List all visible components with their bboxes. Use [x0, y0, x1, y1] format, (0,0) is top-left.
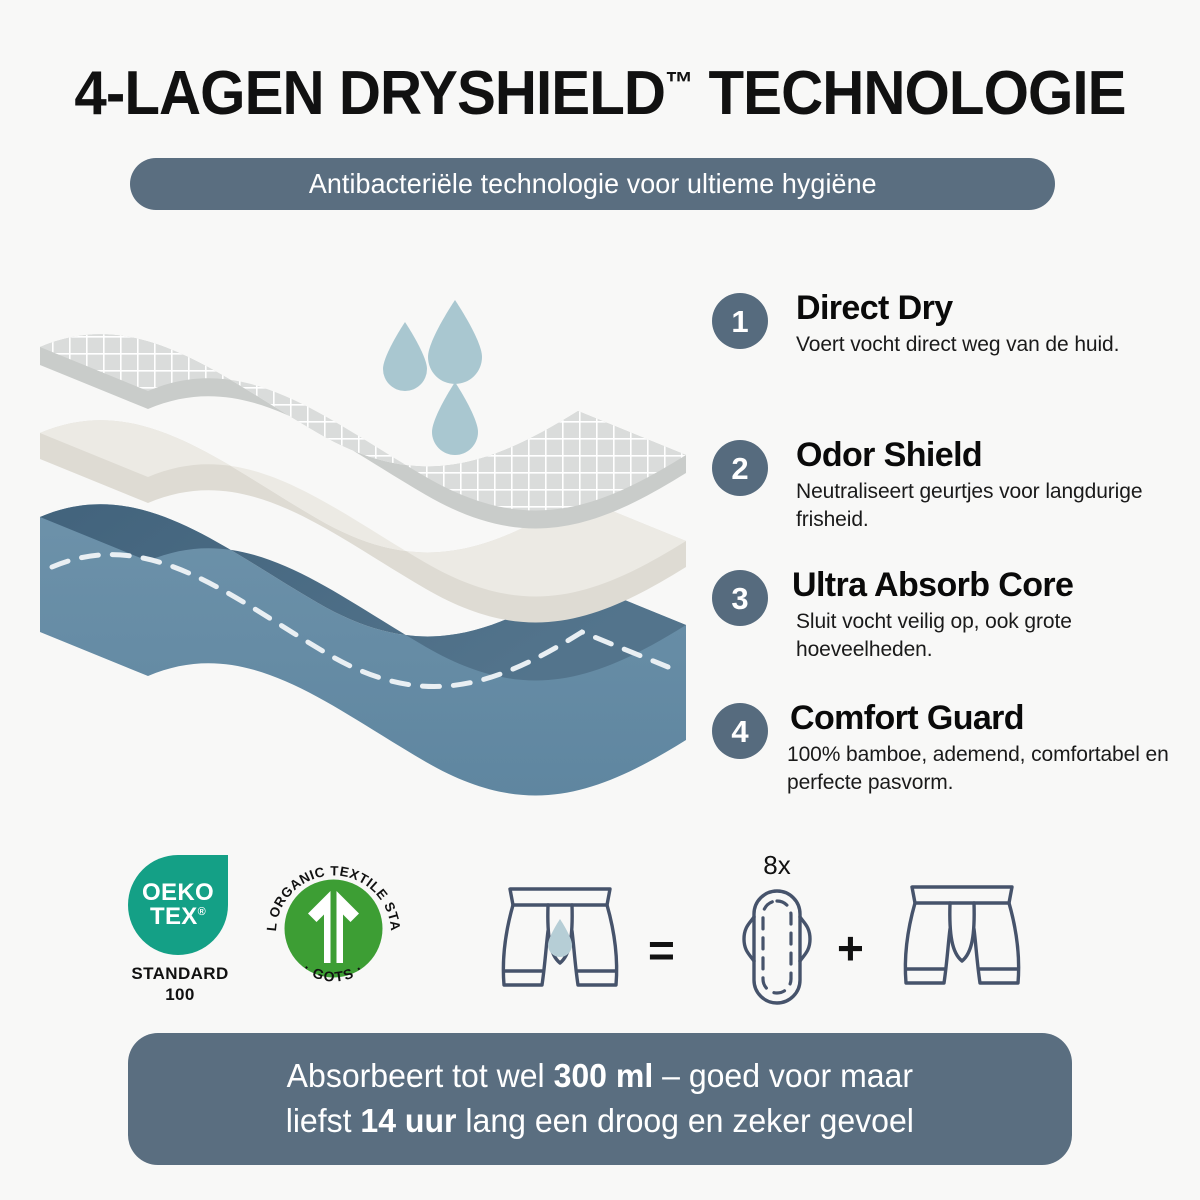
banner-l2-post: lang een droog en zeker gevoel: [457, 1102, 914, 1139]
certification-badges: OEKO TEX® STANDARD 100: [110, 855, 430, 1015]
title-main-text: 4-LAGEN DRYSHIELD: [74, 59, 665, 128]
banner-l1-pre: Absorbeert tot wel: [287, 1057, 554, 1094]
boxer-brief-with-droplet-icon: [490, 877, 630, 1007]
pad-inner-dashed-outline: [763, 901, 791, 993]
feature-heading: Comfort Guard: [790, 701, 1190, 737]
feature-description: Neutraliseert geurtjes voor langdurige f…: [796, 478, 1196, 534]
absorption-equation: = 8x +: [480, 845, 1040, 1010]
feature-text-block: Ultra Absorb Core Sluit vocht veilig op,…: [792, 568, 1192, 664]
droplet-icon: [432, 382, 478, 455]
oeko-tex-badge: OEKO TEX® STANDARD 100: [128, 855, 232, 1005]
plain-boxer-brief-icon: [892, 875, 1032, 1005]
oeko-tex-caption: STANDARD 100: [128, 964, 232, 1005]
feature-number-badge: 3: [712, 570, 768, 626]
infographic-page: 4-LAGEN DRYSHIELD™ TECHNOLOGIE Antibacte…: [0, 0, 1200, 1200]
feature-heading: Odor Shield: [796, 438, 1196, 474]
layer-diagram-svg: [18, 285, 708, 825]
gots-logo-svg: GLOBAL ORGANIC TEXTILE STANDARD · GOTS ·: [256, 851, 411, 1006]
gots-badge: GLOBAL ORGANIC TEXTILE STANDARD · GOTS ·: [256, 851, 411, 1006]
sanitary-pad-icon: [732, 887, 822, 1007]
feature-heading: Ultra Absorb Core: [792, 568, 1192, 604]
feature-text-block: Direct Dry Voert vocht direct weg van de…: [796, 291, 1196, 359]
banner-volume-value: 300 ml: [554, 1057, 654, 1094]
droplet-icon: [548, 919, 572, 957]
plus-sign: +: [837, 925, 864, 971]
feature-description: Sluit vocht veilig op, ook grote hoeveel…: [796, 608, 1192, 664]
title-tail-text: TECHNOLOGIE: [693, 59, 1125, 128]
equals-sign: =: [648, 927, 675, 973]
oeko-line2: TEX®: [150, 905, 206, 929]
banner-l2-pre: liefst: [286, 1102, 361, 1139]
feature-number-badge: 1: [712, 293, 768, 349]
banner-l1-post: – goed voor maar: [653, 1057, 913, 1094]
subtitle-text: Antibacteriële technologie voor ultieme …: [309, 168, 877, 200]
feature-text-block: Comfort Guard 100% bamboe, ademend, comf…: [790, 701, 1190, 797]
feature-number-badge: 4: [712, 703, 768, 759]
subtitle-badge: Antibacteriële technologie voor ultieme …: [130, 158, 1055, 210]
feature-heading: Direct Dry: [796, 291, 1196, 327]
gots-circle: [285, 880, 383, 978]
feature-description: Voert vocht direct weg van de huid.: [796, 331, 1196, 359]
banner-duration-value: 14 uur: [361, 1102, 457, 1139]
banner-line-1: Absorbeert tot wel 300 ml – goed voor ma…: [287, 1054, 913, 1099]
absorption-claim-banner: Absorbeert tot wel 300 ml – goed voor ma…: [128, 1033, 1072, 1165]
feature-text-block: Odor Shield Neutraliseert geurtjes voor …: [796, 438, 1196, 534]
oeko-line1: OEKO: [142, 881, 214, 905]
oeko-caption-line2: 100: [128, 985, 232, 1006]
droplet-icon: [383, 322, 427, 391]
oeko-tex-leaf-icon: OEKO TEX®: [128, 855, 228, 955]
multiplier-label: 8x: [742, 850, 812, 881]
exploded-layer-diagram: [18, 285, 708, 825]
banner-line-2: liefst 14 uur lang een droog en zeker ge…: [286, 1099, 914, 1144]
droplet-icon: [428, 300, 482, 384]
feature-description: 100% bamboe, ademend, comfortabel en per…: [787, 741, 1190, 797]
water-droplets-group: [383, 300, 482, 455]
trademark-symbol: ™: [665, 66, 693, 99]
page-title: 4-LAGEN DRYSHIELD™ TECHNOLOGIE: [36, 58, 1164, 129]
oeko-caption-line1: STANDARD: [128, 964, 232, 985]
feature-number-badge: 2: [712, 440, 768, 496]
